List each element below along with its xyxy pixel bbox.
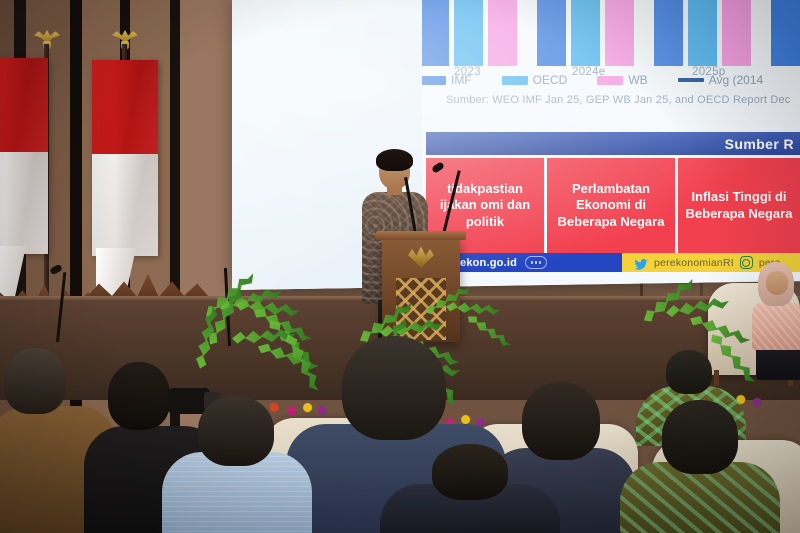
chart-source-note: Sumber: WEO IMF Jan 25, GEP WB Jan 25, a… (446, 94, 791, 106)
audience-head (662, 400, 738, 474)
bar-oecd-2025p: 3,3 (688, 0, 717, 66)
bar-wb-2025p: 2,7 (722, 0, 751, 66)
legend-item-avg: Avg (2014 (678, 73, 764, 87)
slide-section-banner: Sumber R (426, 132, 800, 155)
photograph-scene: 1,0 0,0 3,3 3,2 2,7 3,2 3,2 (0, 0, 800, 533)
audience-head (666, 350, 712, 394)
legend-line-icon (678, 78, 704, 82)
chart-plot-area: 3,3 3,2 2,7 3,2 3,2 2,7 3,3 (420, 0, 800, 66)
legend-item-imf: IMF (420, 73, 472, 87)
bar-imf-2026p: 3,3 (771, 0, 800, 66)
audience-head (342, 336, 446, 440)
bar-imf-2023: 3,3 (420, 0, 449, 66)
garuda-pancasila-emblem-icon (408, 246, 434, 268)
legend-swatch-icon (420, 76, 446, 85)
twitter-bird-icon (634, 257, 648, 268)
woman-face (766, 271, 788, 295)
risk-box-3: Inflasi Tinggi di Beberapa Negara (678, 158, 800, 253)
audience-person (620, 400, 780, 533)
audience-head (108, 362, 170, 430)
slide-footer: ekon.go.id perekonomianRI pere (426, 253, 800, 272)
presentation-slide: 1,0 0,0 3,3 3,2 2,7 3,2 3,2 (232, 0, 800, 290)
projection-screen: 1,0 0,0 3,3 3,2 2,7 3,2 3,2 (232, 0, 800, 290)
banner-title: Sumber R (725, 136, 794, 152)
legend-label: Avg (2014 (709, 73, 764, 87)
legend-item-oecd: OECD (502, 73, 568, 87)
audience-head (198, 396, 274, 466)
bar-oecd-2024e: 3,2 (571, 0, 600, 66)
legend-label: WB (628, 73, 647, 87)
chart-legend: IMF OECD WB Avg (2014 (420, 73, 763, 87)
risk-boxes-row: tidakpastian ijakan omi dan politik Perl… (426, 158, 800, 253)
bar-group-2026p: 3,3 (771, 0, 800, 66)
bar-imf-2024e: 3,2 (537, 0, 566, 66)
twitter-handle: perekonomianRI (654, 257, 734, 269)
indonesian-flag (0, 58, 48, 254)
bar-group-2023: 3,3 3,2 2,7 (420, 0, 517, 66)
legend-swatch-icon (597, 76, 623, 85)
bar-group-2024e: 3,2 3,2 2,7 (537, 0, 634, 66)
website-label: ekon.go.id (460, 257, 517, 269)
instagram-icon (740, 256, 753, 269)
podium-top-surface (376, 231, 466, 240)
speaker-hair (376, 149, 413, 171)
bar-oecd-2023: 3,2 (454, 0, 483, 66)
legend-label: OECD (533, 73, 568, 87)
legend-item-wb: WB (597, 73, 647, 87)
bar-imf-2025p: 3,3 (654, 0, 683, 66)
bar-group-2025p: 3,3 3,3 2,7 (654, 0, 751, 66)
audience-person (380, 444, 560, 533)
bar-wb-2024e: 2,7 (605, 0, 634, 66)
audience-head (4, 348, 66, 414)
legend-swatch-icon (502, 76, 528, 85)
indonesian-flag (92, 60, 158, 256)
risk-box-2: Perlambatan Ekonomi di Beberapa Negara (547, 158, 675, 253)
tiktok-icon (525, 256, 547, 269)
audience-person (162, 396, 312, 533)
bar-wb-2023: 2,7 (488, 0, 517, 66)
legend-label: IMF (451, 73, 472, 87)
audience-head (432, 444, 508, 500)
